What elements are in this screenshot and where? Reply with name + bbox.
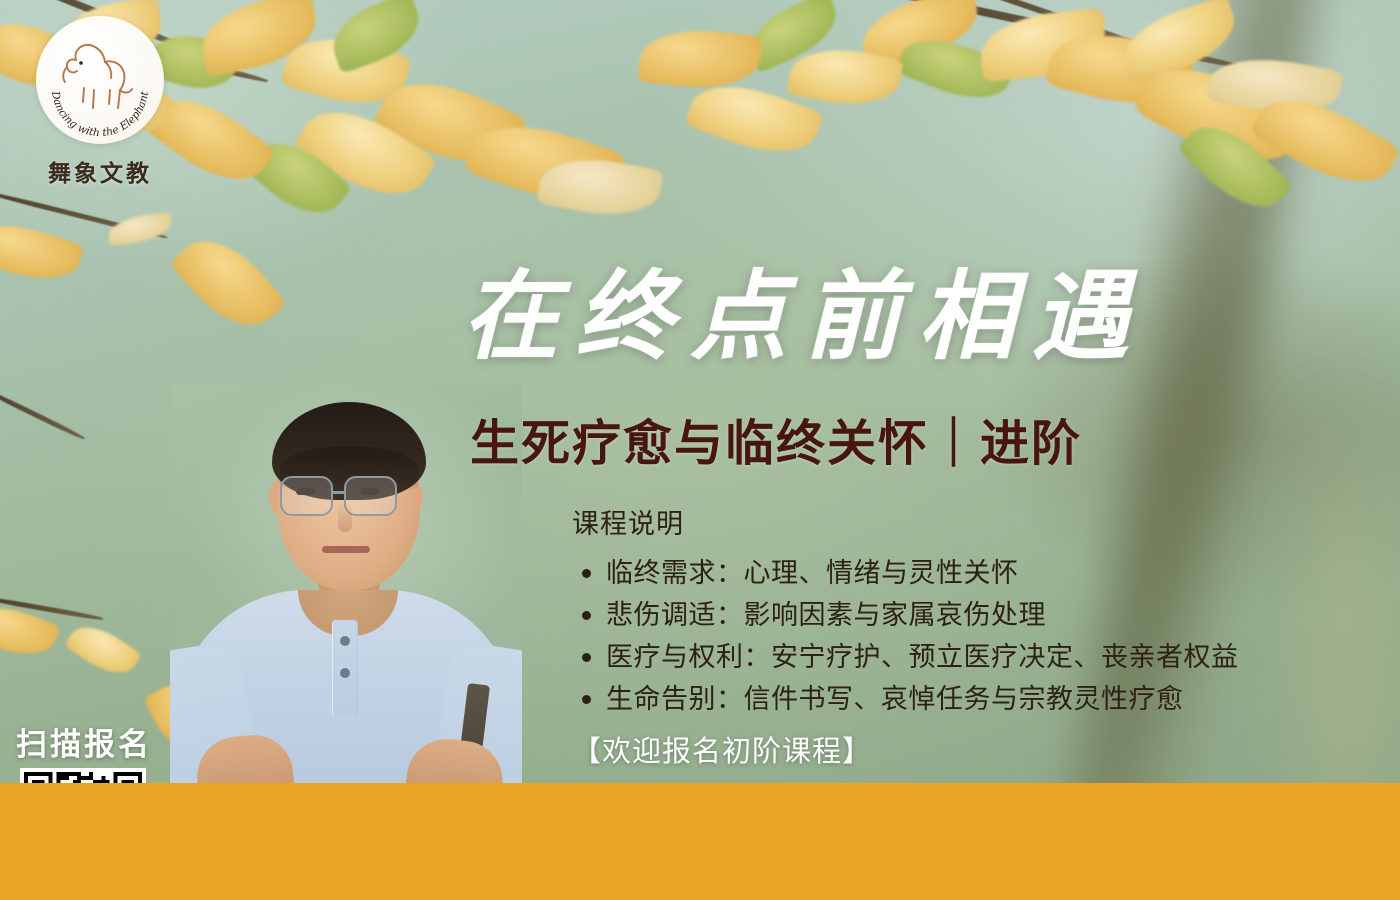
list-item: 临终需求：心理、情绪与灵性关怀 xyxy=(572,553,1332,595)
scan-signup-label: 扫描报名 xyxy=(16,719,152,764)
logo-script-text: Dancing with the Elephant xyxy=(49,89,151,139)
list-item: 医疗与权利：安宁疗护、预立医疗决定、丧亲者权益 xyxy=(572,637,1332,679)
bullet-dot-icon xyxy=(582,569,591,578)
shirt-button-top xyxy=(340,636,350,646)
page-subtitle: 生死疗愈与临终关怀｜进阶 xyxy=(470,404,1082,475)
mouth xyxy=(322,546,370,553)
list-item: 生命告别：信件书写、哀悼任务与宗教灵性疗愈 xyxy=(572,679,1332,721)
bullet-dot-icon xyxy=(582,611,591,620)
bottom-info-bar: 主讲人 陈大正 人间大学台中分校 生死疗愈、潜意识沟通讲师 美西：2026/1/… xyxy=(0,783,1400,900)
course-description: 课程说明 临终需求：心理、情绪与灵性关怀 悲伤调适：影响因素与家属哀伤处理 医疗… xyxy=(572,502,1332,720)
nose xyxy=(338,502,352,532)
bullet-dot-icon xyxy=(582,653,591,662)
elephant-circle-logo-icon: Dancing with the Elephant xyxy=(36,16,164,144)
svg-text:Dancing with the Elephant: Dancing with the Elephant xyxy=(49,89,151,139)
list-item-label: 生命告别：信件书写、哀悼任务与宗教灵性疗愈 xyxy=(606,684,1184,715)
description-heading: 课程说明 xyxy=(572,502,1332,541)
brand-logo: Dancing with the Elephant 舞象文教 xyxy=(28,16,188,188)
description-bullet-list: 临终需求：心理、情绪与灵性关怀 悲伤调适：影响因素与家属哀伤处理 医疗与权利：安… xyxy=(572,553,1332,720)
list-item-label: 悲伤调适：影响因素与家属哀伤处理 xyxy=(606,600,1046,631)
list-item-label: 临终需求：心理、情绪与灵性关怀 xyxy=(606,558,1019,589)
bullet-dot-icon xyxy=(582,695,591,704)
page-title: 在终点前相遇 xyxy=(462,262,1292,371)
eyeglasses-lens-left xyxy=(280,476,333,516)
eyeglasses-bridge xyxy=(333,491,346,494)
shirt-button-bottom xyxy=(340,668,350,678)
list-item-label: 医疗与权利：安宁疗护、预立医疗决定、丧亲者权益 xyxy=(606,642,1239,673)
poster-root: Dancing with the Elephant 舞象文教 在终点前相遇 生 xyxy=(0,0,1400,900)
welcome-note: 【欢迎报名初阶课程】 xyxy=(572,728,872,770)
brand-name-cn: 舞象文教 xyxy=(28,154,172,188)
list-item: 悲伤调适：影响因素与家属哀伤处理 xyxy=(572,595,1332,637)
